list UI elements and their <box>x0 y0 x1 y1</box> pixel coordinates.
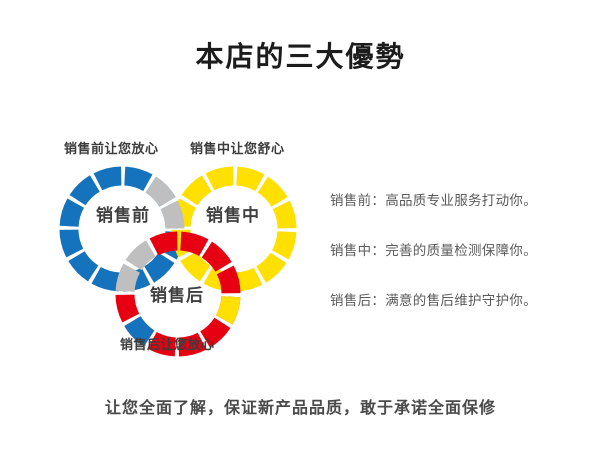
three-ring-diagram: 销售前让您放心 销售中让您舒心 销售后让您放心 销售前 销售中 销售后 <box>38 126 328 366</box>
list-item: 销售中：完善的质量检测保障你。 <box>330 242 595 261</box>
ring-diagram-svg <box>38 126 328 366</box>
ring-caption-in-sale: 销售中让您舒心 <box>190 138 285 157</box>
page-title: 本店的三大優勢 <box>0 40 601 74</box>
ring-label-after-sale: 销售后 <box>150 281 204 306</box>
slide-canvas: 本店的三大優勢 <box>0 0 601 450</box>
advantage-list: 销售前：高品质专业服务打动你。 销售中：完善的质量检测保障你。 销售后：满意的售… <box>330 192 595 311</box>
ring-caption-pre-sale: 销售前让您放心 <box>64 138 159 157</box>
ring-label-pre-sale: 销售前 <box>96 201 150 226</box>
footer-tagline: 让您全面了解，保证新产品品质，敢于承诺全面保修 <box>0 394 601 418</box>
ring-caption-after-sale: 销售后让您放心 <box>120 334 215 353</box>
list-item: 销售前：高品质专业服务打动你。 <box>330 192 595 211</box>
ring-label-in-sale: 销售中 <box>206 201 260 226</box>
list-item: 销售后：满意的售后维护守护你。 <box>330 292 595 311</box>
